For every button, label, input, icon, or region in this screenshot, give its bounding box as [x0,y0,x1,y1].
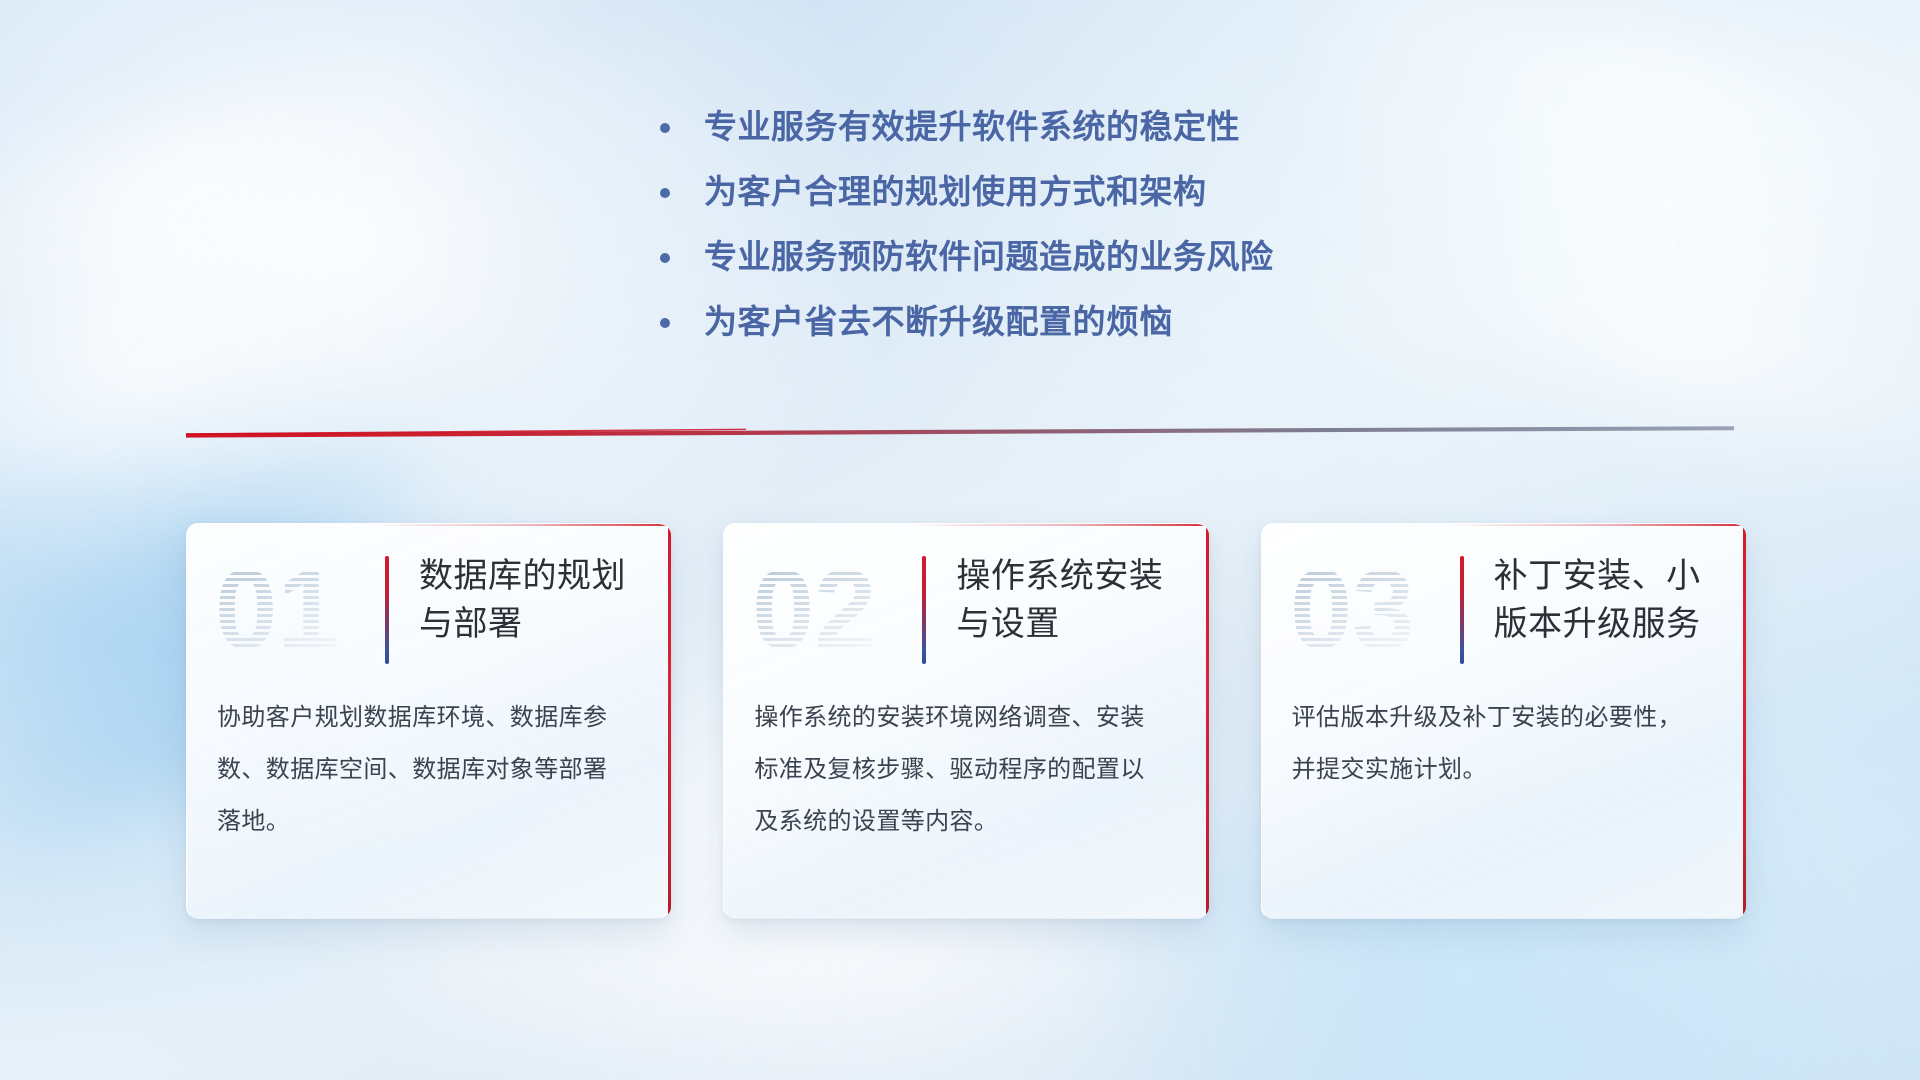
list-item: 为客户合理的规划使用方式和架构 [660,169,1420,234]
card-number-watermark: 01 [213,548,385,666]
slide-root: 专业服务有效提升软件系统的稳定性 为客户合理的规划使用方式和架构 专业服务预防软… [0,0,1920,1080]
card-title: 操作系统安装与设置 [956,548,1178,648]
card-list: 01 数据库的规划与部署 协助客户规划数据库环境、数据库参数、数据库空间、数据库… [186,523,1746,919]
card-title: 补丁安装、小版本升级服务 [1494,548,1716,648]
card-header: 02 操作系统安装与设置 [724,524,1208,674]
card-number-text: 03 [1290,548,1415,666]
card-header: 03 补丁安装、小版本升级服务 [1262,524,1746,674]
card-title-accent-bar [1460,556,1464,664]
service-card-02[interactable]: 02 操作系统安装与设置 操作系统的安装环境网络调查、安装标准及复核步骤、驱动程… [723,523,1208,919]
bullet-text: 为客户合理的规划使用方式和架构 [704,169,1207,215]
list-item: 专业服务预防软件问题造成的业务风险 [660,234,1420,299]
bullet-text: 为客户省去不断升级配置的烦恼 [704,299,1173,345]
bullet-dot-icon [660,318,670,328]
card-body-text: 评估版本升级及补丁安装的必要性，并提交实施计划。 [1262,674,1746,796]
card-number-text: 02 [752,548,877,666]
service-card-03[interactable]: 03 补丁安装、小版本升级服务 评估版本升级及补丁安装的必要性，并提交实施计划。 [1261,523,1746,919]
bullet-text: 专业服务有效提升软件系统的稳定性 [704,104,1240,150]
divider-shape [186,424,1734,440]
section-divider [186,424,1734,440]
bullet-text: 专业服务预防软件问题造成的业务风险 [704,234,1274,280]
card-number-watermark: 02 [750,548,922,666]
card-number-text: 01 [215,548,340,666]
card-title-accent-bar [922,556,926,664]
bullet-list: 专业服务有效提升软件系统的稳定性 为客户合理的规划使用方式和架构 专业服务预防软… [660,104,1420,364]
card-number-watermark: 03 [1288,548,1460,666]
list-item: 为客户省去不断升级配置的烦恼 [660,299,1420,364]
list-item: 专业服务有效提升软件系统的稳定性 [660,104,1420,169]
card-body-text: 操作系统的安装环境网络调查、安装标准及复核步骤、驱动程序的配置以及系统的设置等内… [724,674,1208,848]
card-body-text: 协助客户规划数据库环境、数据库参数、数据库空间、数据库对象等部署落地。 [187,674,671,848]
card-title-accent-bar [385,556,389,664]
bullet-dot-icon [660,123,670,133]
card-title: 数据库的规划与部署 [419,548,641,648]
bullet-dot-icon [660,188,670,198]
card-header: 01 数据库的规划与部署 [187,524,671,674]
bullet-dot-icon [660,253,670,263]
service-card-01[interactable]: 01 数据库的规划与部署 协助客户规划数据库环境、数据库参数、数据库空间、数据库… [186,523,671,919]
